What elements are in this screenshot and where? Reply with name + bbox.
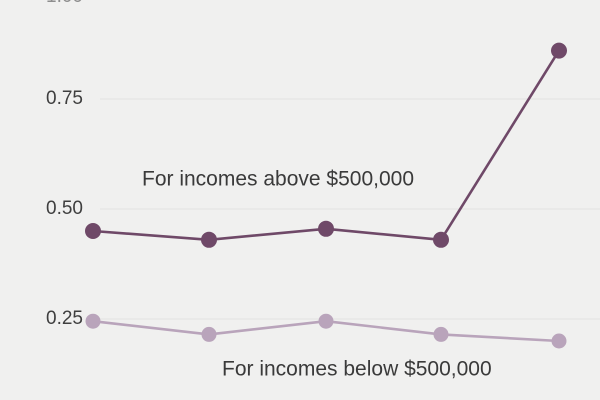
series-below-500k-point-5	[552, 334, 567, 349]
annotation-above-500k: For incomes above $500,000	[142, 168, 414, 191]
annotation-below-500k: For incomes below $500,000	[222, 358, 492, 381]
series-below-500k-point-2	[202, 327, 217, 342]
series-above-500k-point-1	[85, 223, 101, 239]
chart-screen: 1.00 0.75 0.50 0.25 For incomes above $5…	[0, 0, 600, 400]
y-tick-label-0-25: 0.25	[46, 308, 83, 329]
y-tick-label-0-75: 0.75	[46, 88, 83, 109]
series-below-500k-point-3	[319, 314, 334, 329]
series-above-500k-point-5	[551, 43, 567, 59]
series-above-500k-point-2	[201, 232, 217, 248]
line-chart: 1.00 0.75 0.50 0.25 For incomes above $5…	[0, 0, 600, 400]
series-below-500k-point-4	[434, 327, 449, 342]
y-tick-label-1-00: 1.00	[46, 0, 83, 7]
series-above-500k-point-3	[318, 221, 334, 237]
y-tick-label-0-50: 0.50	[46, 198, 83, 219]
chart-background	[0, 0, 600, 400]
series-above-500k-point-4	[433, 232, 449, 248]
series-below-500k-point-1	[86, 314, 101, 329]
